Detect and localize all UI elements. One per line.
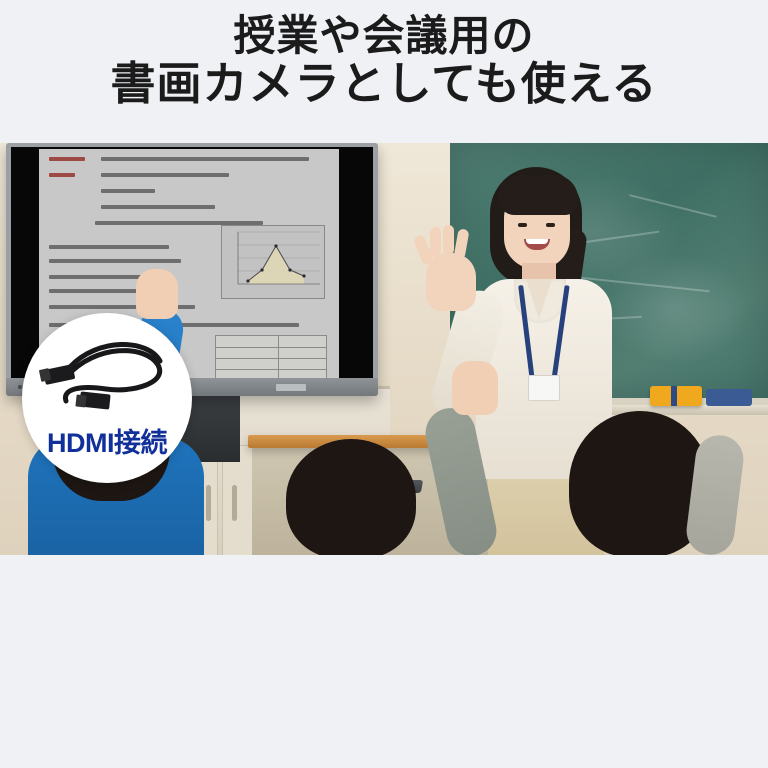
worksheet-table bbox=[215, 335, 327, 378]
student-right-arm bbox=[400, 383, 560, 555]
chalkboard-eraser-secondary bbox=[706, 389, 752, 406]
chalkboard-eraser bbox=[650, 386, 702, 406]
worksheet-chart bbox=[221, 225, 325, 299]
hdmi-connection-badge: HDMI接続 bbox=[22, 313, 192, 483]
student-right bbox=[545, 411, 745, 555]
hdmi-badge-label: HDMI接続 bbox=[47, 421, 167, 460]
frequency-polygon-chart bbox=[222, 226, 326, 300]
page-root: 授業や会議用の 書画カメラとしても使える bbox=[0, 0, 768, 768]
headline-line-2: 書画カメラとしても使える bbox=[0, 59, 768, 109]
classroom-photo: HDMI接続 bbox=[0, 143, 768, 555]
teacher-raised-hand bbox=[426, 253, 476, 311]
connection-diagram: 接続図 bbox=[0, 557, 768, 768]
headline-line-1: 授業や会議用の bbox=[0, 12, 768, 59]
hdmi-cable-icon bbox=[36, 327, 178, 423]
page-title: 授業や会議用の 書画カメラとしても使える bbox=[0, 12, 768, 109]
display-brand-logo bbox=[276, 384, 306, 391]
